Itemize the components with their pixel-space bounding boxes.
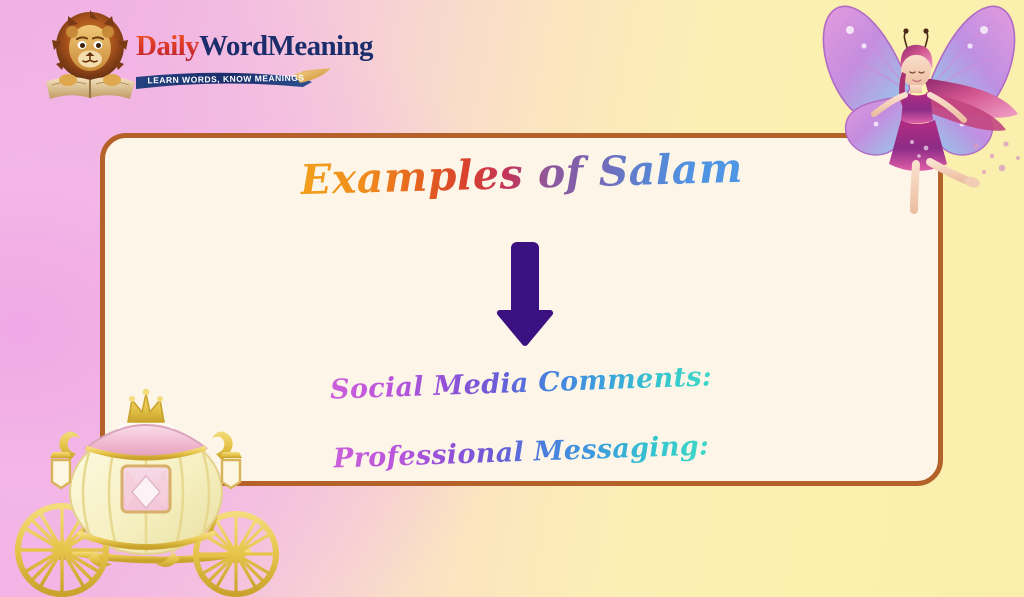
princess-carriage-illustration bbox=[14, 382, 304, 597]
lion-with-book-icon bbox=[38, 6, 143, 106]
site-logo[interactable]: DailyWordMeaning bbox=[38, 6, 323, 106]
down-arrow-icon bbox=[497, 238, 553, 348]
logo-name-part2: WordMeaning bbox=[199, 30, 373, 62]
fairy-illustration bbox=[806, 0, 1024, 211]
logo-wordmark: DailyWordMeaning bbox=[136, 30, 326, 72]
crown-icon bbox=[128, 389, 164, 422]
carriage-lantern-left bbox=[50, 452, 72, 488]
carriage-lantern-right bbox=[220, 452, 242, 488]
logo-name-part1: Daily bbox=[136, 30, 199, 62]
poster-canvas: DailyWordMeaning bbox=[0, 0, 1024, 597]
